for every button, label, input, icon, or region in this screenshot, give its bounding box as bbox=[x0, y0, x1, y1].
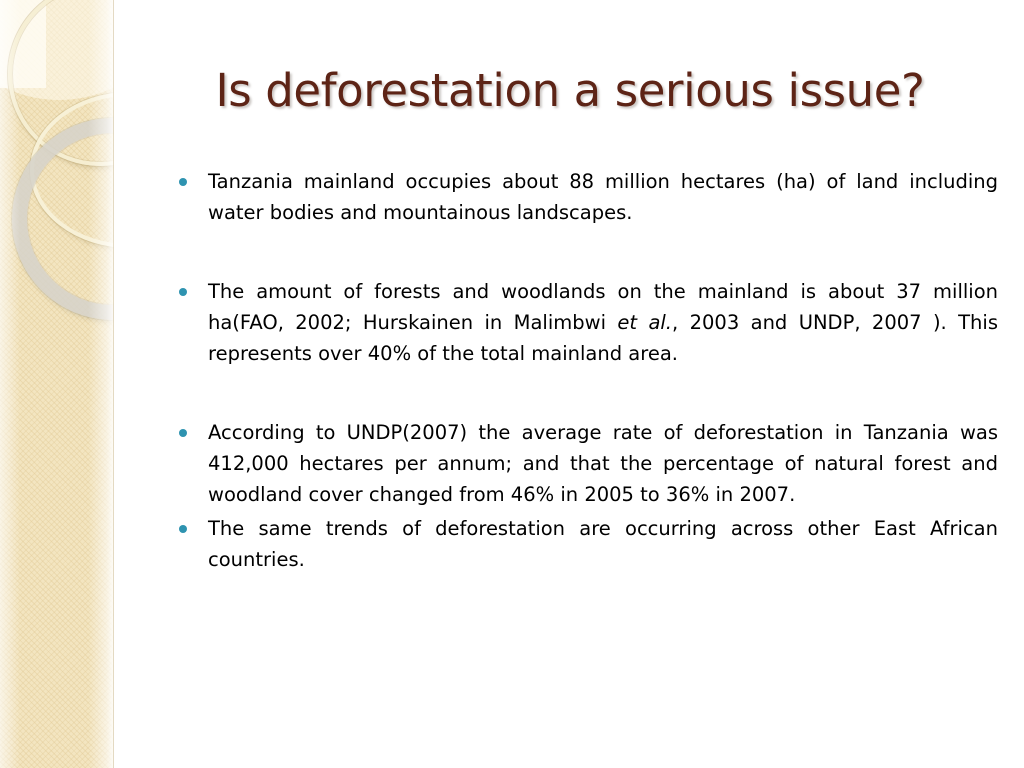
bullet-text-citation-italic: et al. bbox=[617, 311, 672, 334]
bullet-text: According to UNDP(2007) the average rate… bbox=[208, 421, 998, 506]
bullet-dot-icon bbox=[179, 178, 187, 186]
bullet-dot-icon bbox=[179, 525, 187, 533]
sidebar-left-highlight bbox=[0, 0, 20, 768]
bullet-item: The same trends of deforestation are occ… bbox=[176, 513, 998, 575]
bullet-item: The amount of forests and woodlands on t… bbox=[176, 276, 998, 369]
bullet-item: According to UNDP(2007) the average rate… bbox=[176, 417, 998, 510]
slide-title: Is deforestation a serious issue? bbox=[130, 64, 1010, 117]
decorative-sidebar bbox=[0, 0, 114, 768]
slide-body: Tanzania mainland occupies about 88 mill… bbox=[176, 166, 998, 575]
bullet-text: Tanzania mainland occupies about 88 mill… bbox=[208, 170, 998, 224]
sidebar-right-fade bbox=[88, 0, 114, 768]
bullet-item: Tanzania mainland occupies about 88 mill… bbox=[176, 166, 998, 228]
bullet-dot-icon bbox=[179, 288, 187, 296]
slide: Is deforestation a serious issue? Tanzan… bbox=[0, 0, 1024, 768]
bullet-dot-icon bbox=[179, 429, 187, 437]
sidebar-divider bbox=[113, 0, 114, 768]
bullet-text: The same trends of deforestation are occ… bbox=[208, 517, 998, 571]
